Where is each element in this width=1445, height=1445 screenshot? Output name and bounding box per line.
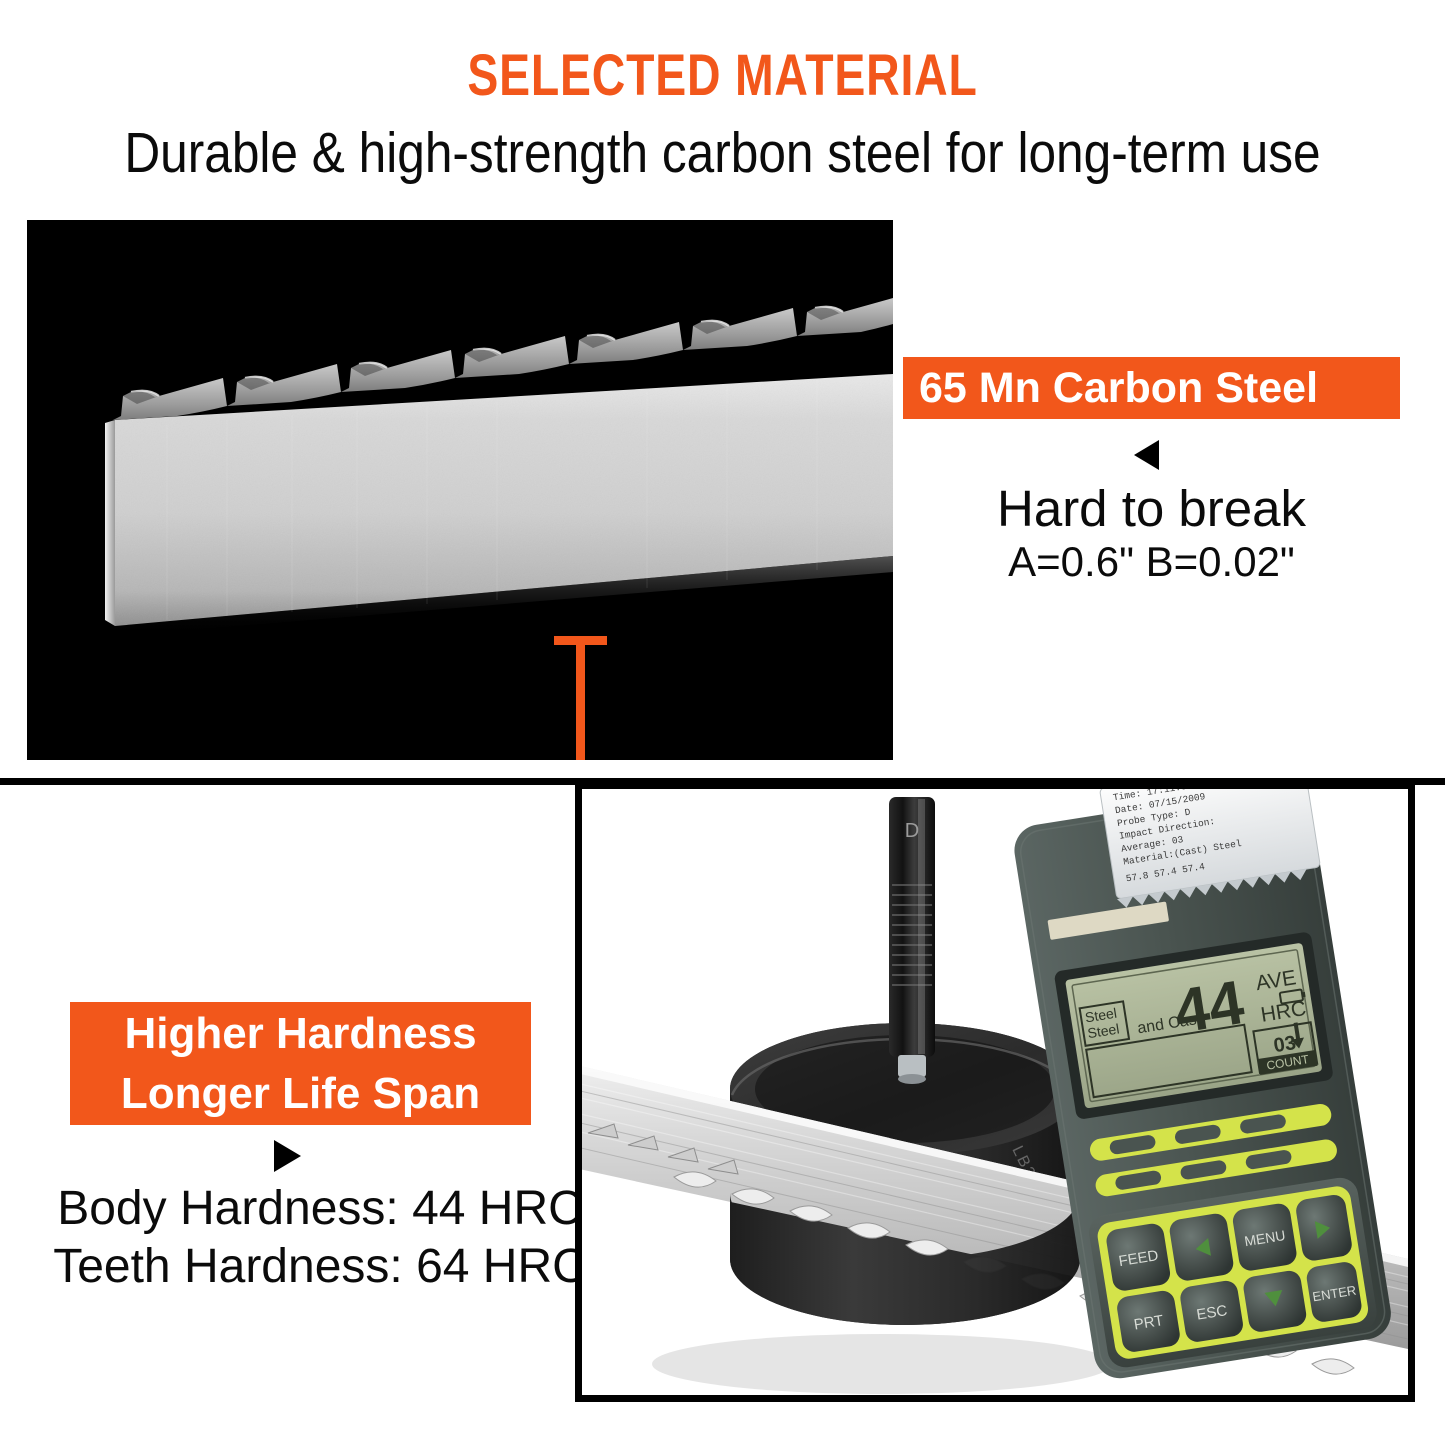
badge-hardness-line2: Longer Life Span <box>70 1064 531 1124</box>
blade-photo-panel: A B <box>27 220 893 760</box>
triangle-left-icon <box>1134 440 1159 470</box>
saw-blade-illustration <box>27 220 893 760</box>
body-hardness-text: Body Hardness: 44 HRC <box>40 1181 600 1237</box>
badge-hardness-line1: Higher Hardness <box>70 1004 531 1064</box>
dimension-values-text: A=0.6" B=0.02" <box>903 538 1400 586</box>
page-subtitle: Durable & high-strength carbon steel for… <box>94 122 1351 185</box>
triangle-right-icon <box>274 1140 301 1172</box>
teeth-hardness-text: Teeth Hardness: 64 HRC <box>40 1239 600 1295</box>
hardness-tester-illustration: LB3878 <box>582 789 1408 1395</box>
badge-carbon-steel: 65 Mn Carbon Steel <box>903 357 1400 419</box>
dimension-a-line <box>576 638 585 760</box>
svg-text:D: D <box>905 820 919 842</box>
hardness-tester-photo-panel: LB3878 <box>575 782 1415 1402</box>
badge-higher-hardness: Higher Hardness Longer Life Span <box>70 1002 531 1125</box>
page-title: SELECTED MATERIAL <box>145 46 1301 107</box>
hard-to-break-text: Hard to break <box>903 480 1400 539</box>
